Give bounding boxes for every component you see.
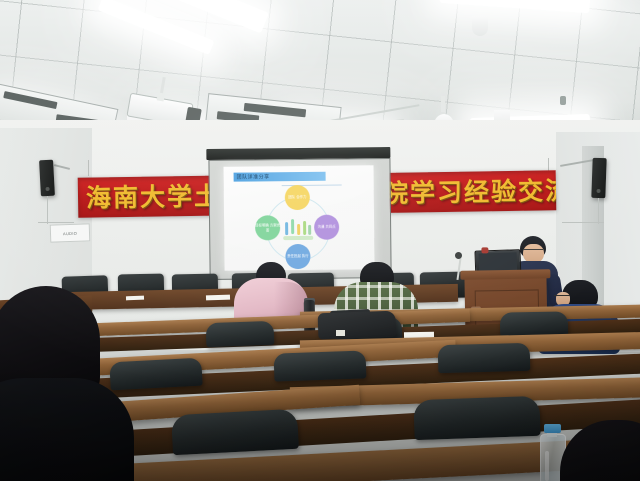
wall-speaker <box>591 158 606 198</box>
glasses-icon <box>554 295 570 300</box>
speaker-cable <box>47 196 48 224</box>
chair <box>413 396 540 440</box>
illustration-figure <box>308 225 311 235</box>
illustration-figure <box>297 224 300 235</box>
speaker-cable <box>38 222 74 223</box>
bottle-cap <box>544 424 561 433</box>
illustration-figure <box>285 222 288 235</box>
diagram-center-illustration <box>283 218 313 240</box>
lecture-hall-photo: AUDIO 海南大学土木建筑工程学院学习经验交流会 团队详准分享 团队 合作力 … <box>0 0 640 481</box>
chair <box>274 350 367 381</box>
bottle-highlight <box>545 451 549 481</box>
podium-top-surface <box>460 269 550 280</box>
glasses-icon <box>523 249 543 254</box>
chair <box>438 343 531 373</box>
chair <box>171 409 299 456</box>
microphone <box>455 252 462 259</box>
fan-stem <box>441 96 445 112</box>
projection-screen: 团队详准分享 团队 合作力 目标明确 方案完善 沟通 共同点 责任担起 执行 <box>206 147 391 281</box>
wall-plate: AUDIO <box>50 223 91 242</box>
laptop-bag <box>318 311 397 340</box>
wall-speaker <box>39 160 55 197</box>
paper-sheet <box>206 295 230 301</box>
ac-vent <box>3 91 57 109</box>
speaker-led <box>596 189 600 193</box>
desk-object <box>336 330 345 336</box>
slide-title-bar: 团队详准分享 <box>234 172 326 182</box>
illustration-figure <box>303 221 306 235</box>
attendee-hair <box>560 420 640 481</box>
smoke-detector-icon <box>560 96 566 105</box>
wall-plate-label: AUDIO <box>63 230 77 235</box>
banner-string <box>88 160 89 176</box>
diagram-node-top: 团队 合作力 <box>285 185 310 210</box>
slide-title-text: 团队详准分享 <box>234 173 270 180</box>
chair <box>500 311 568 336</box>
speaker-cable <box>598 198 599 224</box>
attendee-foreground-left <box>0 286 132 481</box>
illustration-figure <box>291 219 294 234</box>
chair <box>206 321 275 347</box>
slide-circular-diagram: 团队 合作力 目标明确 方案完善 沟通 共同点 责任担起 执行 <box>257 188 338 267</box>
speaker-cable <box>562 222 604 223</box>
diagram-node-right: 沟通 共同点 <box>314 215 339 240</box>
pendant-light-fitting <box>472 16 488 36</box>
attendee-shoulders <box>0 378 134 481</box>
diagram-node-left: 目标明确 方案完善 <box>255 215 280 240</box>
presentation-slide: 团队详准分享 团队 合作力 目标明确 方案完善 沟通 共同点 责任担起 执行 <box>224 165 375 271</box>
laptop-accessory <box>481 247 488 253</box>
attendee-foreground-right <box>560 420 640 481</box>
illustration-base <box>283 236 313 240</box>
speaker-led <box>45 187 49 191</box>
